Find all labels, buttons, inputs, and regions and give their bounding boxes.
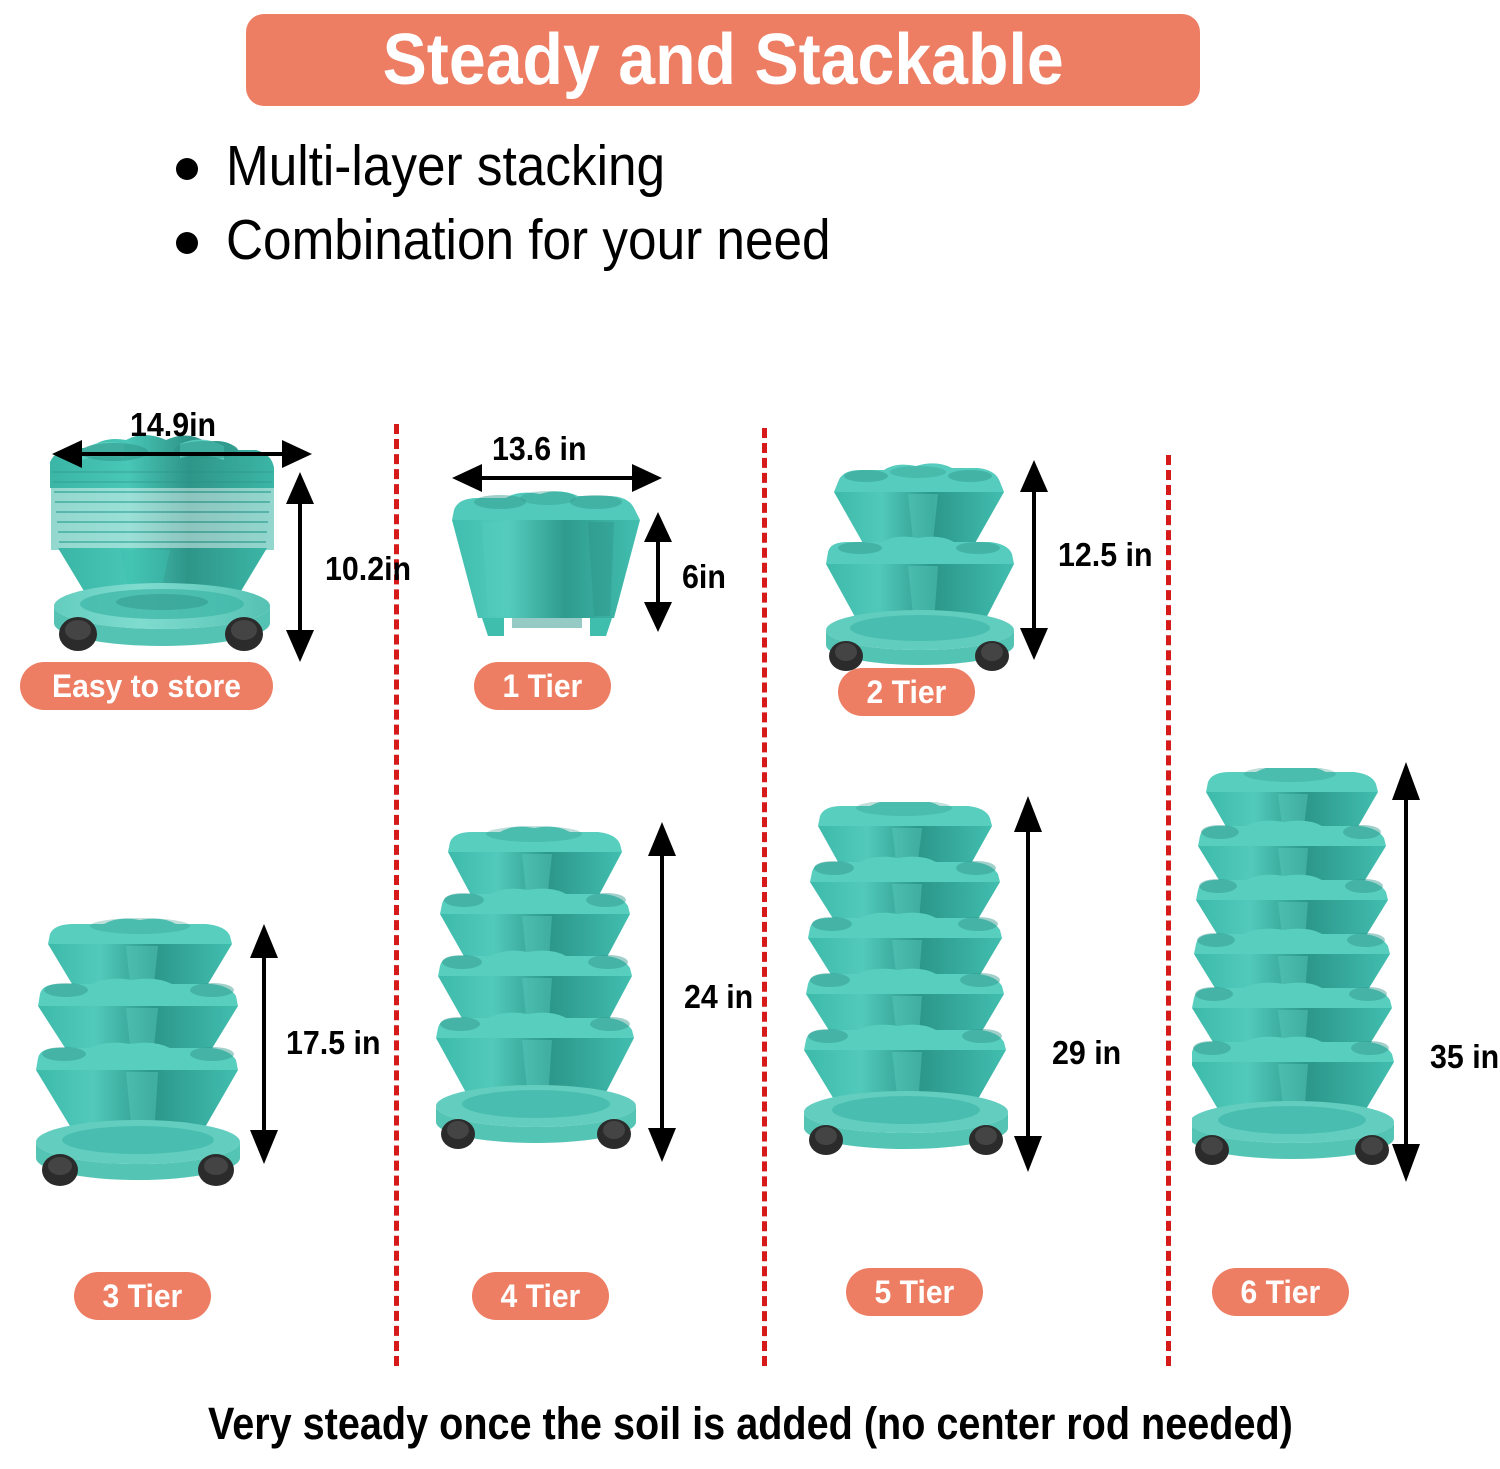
- product-label-easy-to-store[interactable]: Easy to store: [20, 662, 273, 710]
- product-cell-1-tier: 13.6 in 6in 1 Tier: [430, 440, 760, 730]
- bullet-label: Combination for your need: [226, 210, 831, 272]
- height-dimension-arrow: [248, 924, 280, 1164]
- product-label-4-tier[interactable]: 4 Tier: [472, 1272, 609, 1320]
- product-label-1-tier[interactable]: 1 Tier: [474, 662, 611, 710]
- planter-illustration-1-tier: [448, 490, 668, 650]
- height-dimension-label: 24 in: [684, 978, 753, 1016]
- title-banner: Steady and Stackable: [246, 14, 1200, 106]
- list-item: Combination for your need: [176, 210, 1176, 272]
- product-label-text: 3 Tier: [103, 1278, 183, 1315]
- height-dimension-arrow: [642, 512, 674, 632]
- height-dimension-label: 17.5 in: [286, 1024, 381, 1062]
- planter-illustration-3-tier: [30, 918, 280, 1218]
- planter-illustration-4-tier: [434, 826, 664, 1226]
- product-label-2-tier[interactable]: 2 Tier: [838, 668, 975, 716]
- product-label-6-tier[interactable]: 6 Tier: [1212, 1268, 1349, 1316]
- page-title: Steady and Stackable: [382, 24, 1063, 96]
- height-dimension-label: 6in: [682, 558, 726, 596]
- height-dimension-arrow: [284, 472, 316, 662]
- column-divider-3: [1166, 455, 1171, 1366]
- height-dimension-label: 12.5 in: [1058, 536, 1153, 574]
- bullet-label: Multi-layer stacking: [226, 136, 665, 198]
- width-dimension-label: 13.6 in: [492, 430, 587, 468]
- product-label-text: 6 Tier: [1241, 1274, 1321, 1311]
- bullet-dot-icon: [176, 158, 198, 180]
- height-dimension-arrow: [646, 822, 678, 1162]
- width-dimension-label: 14.9in: [130, 406, 216, 444]
- product-cell-6-tier: 35 in 6 Tier: [1176, 756, 1500, 1330]
- planter-illustration-2-tier: [820, 460, 1030, 680]
- height-dimension-label: 35 in: [1430, 1038, 1499, 1076]
- product-label-text: 2 Tier: [867, 674, 947, 711]
- product-label-text: 5 Tier: [875, 1274, 955, 1311]
- footer-caption-text: Very steady once the soil is added (no c…: [208, 1398, 1293, 1450]
- feature-bullet-list: Multi-layer stacking Combination for you…: [176, 136, 1176, 283]
- product-cell-4-tier: 24 in 4 Tier: [424, 800, 764, 1330]
- product-label-5-tier[interactable]: 5 Tier: [846, 1268, 983, 1316]
- height-dimension-arrow: [1018, 460, 1050, 660]
- product-label-text: 4 Tier: [501, 1278, 581, 1315]
- height-dimension-arrow: [1012, 796, 1044, 1172]
- height-dimension-arrow: [1390, 762, 1422, 1182]
- bullet-dot-icon: [176, 232, 198, 254]
- height-dimension-label: 29 in: [1052, 1034, 1121, 1072]
- product-label-text: Easy to store: [52, 668, 241, 705]
- product-cell-easy-to-store: 14.9in 10.2in Easy to store: [20, 410, 390, 730]
- product-label-text: 1 Tier: [503, 668, 583, 705]
- height-dimension-label: 10.2in: [325, 550, 411, 588]
- planter-illustration-6-tier: [1192, 768, 1412, 1218]
- list-item: Multi-layer stacking: [176, 136, 1176, 198]
- product-cell-5-tier: 29 in 5 Tier: [794, 782, 1144, 1330]
- planter-illustration-5-tier: [804, 802, 1034, 1222]
- footer-caption: Very steady once the soil is added (no c…: [0, 1398, 1500, 1450]
- product-cell-2-tier: 12.5 in 2 Tier: [800, 440, 1140, 730]
- product-cell-3-tier: 17.5 in 3 Tier: [14, 900, 394, 1330]
- product-label-3-tier[interactable]: 3 Tier: [74, 1272, 211, 1320]
